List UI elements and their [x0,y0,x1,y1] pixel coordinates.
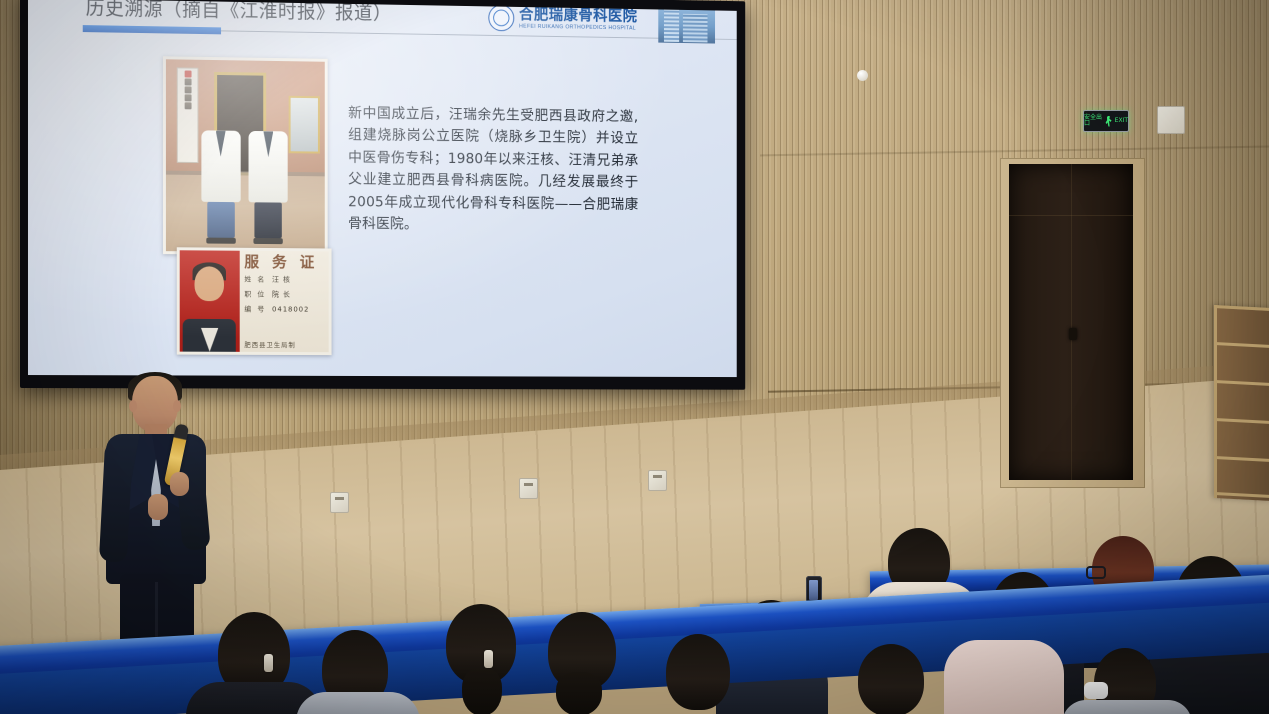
hospital-name-cn: 合肥瑞康骨科医院 [519,7,637,24]
clinic-vertical-sign [177,67,198,163]
door-split-line [1071,164,1072,480]
projection-screen-frame: 历史溯源（摘自《江淮时报》报道） 合肥瑞康骨科医院 HEFEI RUIKANG … [20,0,745,390]
wall-control-panel[interactable] [1157,106,1185,134]
door-handle[interactable] [1069,328,1077,340]
door-frame [1000,158,1145,488]
hair-clip [264,654,273,672]
audience-head [858,644,924,714]
title-underline-accent [83,25,221,34]
face-mask [1084,682,1108,699]
certificate-title: 服 务 证 [244,255,323,270]
audience-shoulders [1062,700,1192,714]
audience-head [666,634,730,710]
hospital-emblem-icon [488,4,514,31]
certificate-field-value: 汪 核 [272,275,291,285]
certificate-field-key: 姓 名 [244,275,266,285]
exit-sign: 安全出口 EXIT [1083,110,1129,132]
lecture-hall-scene: 安全出口 EXIT 历史溯源（摘自《江淮时报》报道） 合肥瑞康骨科医院 [0,0,1269,714]
slide-title: 历史溯源（摘自《江淮时报》报道） [86,0,392,25]
running-man-icon [1105,116,1112,127]
wall-socket[interactable] [330,492,349,513]
wall-socket[interactable] [519,478,538,499]
certificate-field-key: 职 位 [244,289,266,299]
bookshelf [1214,305,1269,501]
wall-socket[interactable] [648,470,667,491]
ponytail [556,672,602,714]
exit-sign-label-en: EXIT [1115,118,1128,124]
certificate-field-key: 编 号 [244,304,266,314]
ceiling-sensor-icon [857,70,868,81]
ponytail [462,668,502,714]
historic-photo-doctors [163,56,328,255]
hospital-logo: 合肥瑞康骨科医院 HEFEI RUIKANG ORTHOPEDICS HOSPI… [488,4,637,33]
certificate-field-value: 0418002 [272,305,309,313]
audience-shoulders [944,640,1064,714]
certificate-issuer: 肥西县卫生局制 [244,339,295,349]
hair-clip [484,650,493,668]
exit-sign-label-cn: 安全出口 [1084,115,1103,127]
service-certificate-photo: 服 务 证 姓 名 汪 核 职 位 院 长 编 号 0418002 [177,247,332,355]
audience-shoulders [296,692,420,714]
slide-body-text: 新中国成立后，汪瑞余先生受肥西县政府之邀,组建烧脉岗公立医院（烧脉乡卫生院）并设… [348,103,638,238]
certificate-field-value: 院 长 [272,290,291,300]
certificate-portrait [180,250,240,352]
projection-screen: 历史溯源（摘自《江淮时报》报道） 合肥瑞康骨科医院 HEFEI RUIKANG … [28,0,737,377]
double-door[interactable] [1009,164,1133,480]
presenter [100,376,210,676]
glasses-icon [1086,566,1106,579]
hospital-building-photo [658,6,715,44]
hospital-name-en: HEFEI RUIKANG ORTHOPEDICS HOSPITAL [519,24,637,32]
